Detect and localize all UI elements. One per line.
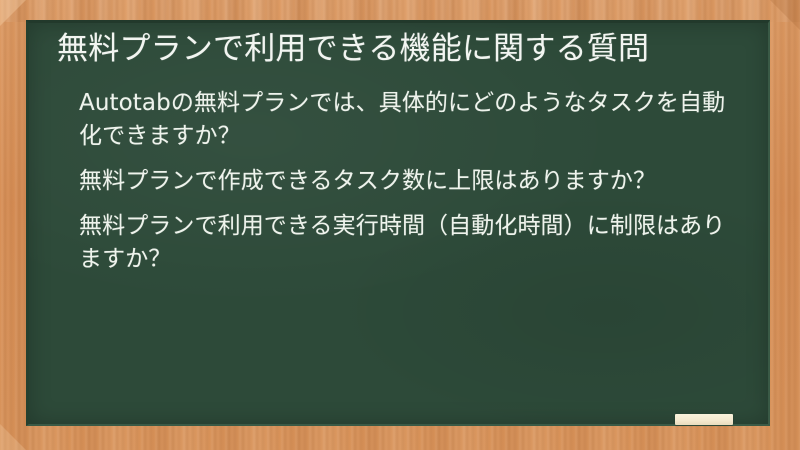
question-item-3: 無料プランで利用できる実行時間（自動化時間）に制限はありますか？ — [79, 210, 741, 276]
frame-bevel-bottom-left — [0, 424, 26, 450]
question-item-1: Autotabの無料プランでは、具体的にどのようなタスクを自動化できますか？ — [79, 87, 741, 153]
slide-title: 無料プランで利用できる機能に関する質問 — [57, 29, 717, 71]
question-item-2: 無料プランで作成できるタスク数に上限はありますか？ — [79, 165, 741, 198]
chalk-stick-icon — [675, 414, 733, 425]
question-list: Autotabの無料プランでは、具体的にどのようなタスクを自動化できますか？ 無… — [57, 87, 744, 277]
frame-grain-texture — [0, 0, 800, 22]
blackboard-surface: 無料プランで利用できる機能に関する質問 Autotabの無料プランでは、具体的に… — [26, 20, 770, 426]
blackboard-slide: 無料プランで利用できる機能に関する質問 Autotabの無料プランでは、具体的に… — [0, 0, 800, 450]
blackboard-content: 無料プランで利用できる機能に関する質問 Autotabの無料プランでは、具体的に… — [29, 23, 768, 424]
frame-bevel-top-left — [0, 0, 26, 26]
frame-bevel-top-right — [770, 0, 800, 30]
